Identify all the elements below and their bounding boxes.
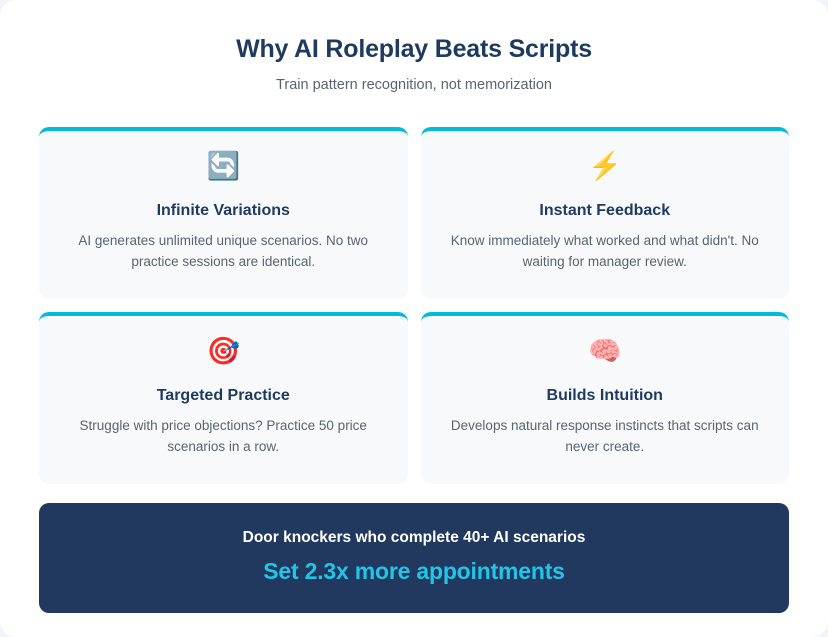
feature-card-title: Builds Intuition — [447, 386, 764, 405]
stat-banner-caption: Door knockers who complete 40+ AI scenar… — [59, 528, 769, 547]
stat-banner: Door knockers who complete 40+ AI scenar… — [39, 503, 789, 613]
feature-card-description: AI generates unlimited unique scenarios.… — [65, 231, 382, 273]
page-container: Why AI Roleplay Beats Scripts Train patt… — [0, 0, 828, 637]
feature-card-title: Targeted Practice — [65, 386, 382, 405]
page-subtitle: Train pattern recognition, not memorizat… — [39, 76, 789, 95]
feature-card-title: Instant Feedback — [447, 201, 764, 220]
stat-banner-headline: Set 2.3x more appointments — [59, 558, 769, 586]
content-wrapper: Why AI Roleplay Beats Scripts Train patt… — [0, 0, 828, 613]
feature-card-targeted-practice[interactable]: 🎯 Targeted Practice Struggle with price … — [39, 312, 408, 484]
feature-card-description: Struggle with price objections? Practice… — [65, 416, 382, 458]
bullseye-target-icon: 🎯 — [65, 338, 382, 368]
page-title: Why AI Roleplay Beats Scripts — [39, 34, 789, 64]
high-voltage-icon: ⚡ — [447, 153, 764, 183]
feature-card-instant-feedback[interactable]: ⚡ Instant Feedback Know immediately what… — [421, 127, 790, 299]
feature-card-grid: 🔄 Infinite Variations AI generates unlim… — [39, 127, 789, 484]
feature-card-title: Infinite Variations — [65, 201, 382, 220]
feature-card-description: Know immediately what worked and what di… — [447, 231, 764, 273]
feature-card-description: Develops natural response instincts that… — [447, 416, 764, 458]
feature-card-builds-intuition[interactable]: 🧠 Builds Intuition Develops natural resp… — [421, 312, 790, 484]
arrows-counterclockwise-icon: 🔄 — [65, 153, 382, 183]
brain-icon: 🧠 — [447, 338, 764, 368]
page-header: Why AI Roleplay Beats Scripts Train patt… — [39, 34, 789, 95]
feature-card-infinite-variations[interactable]: 🔄 Infinite Variations AI generates unlim… — [39, 127, 408, 299]
